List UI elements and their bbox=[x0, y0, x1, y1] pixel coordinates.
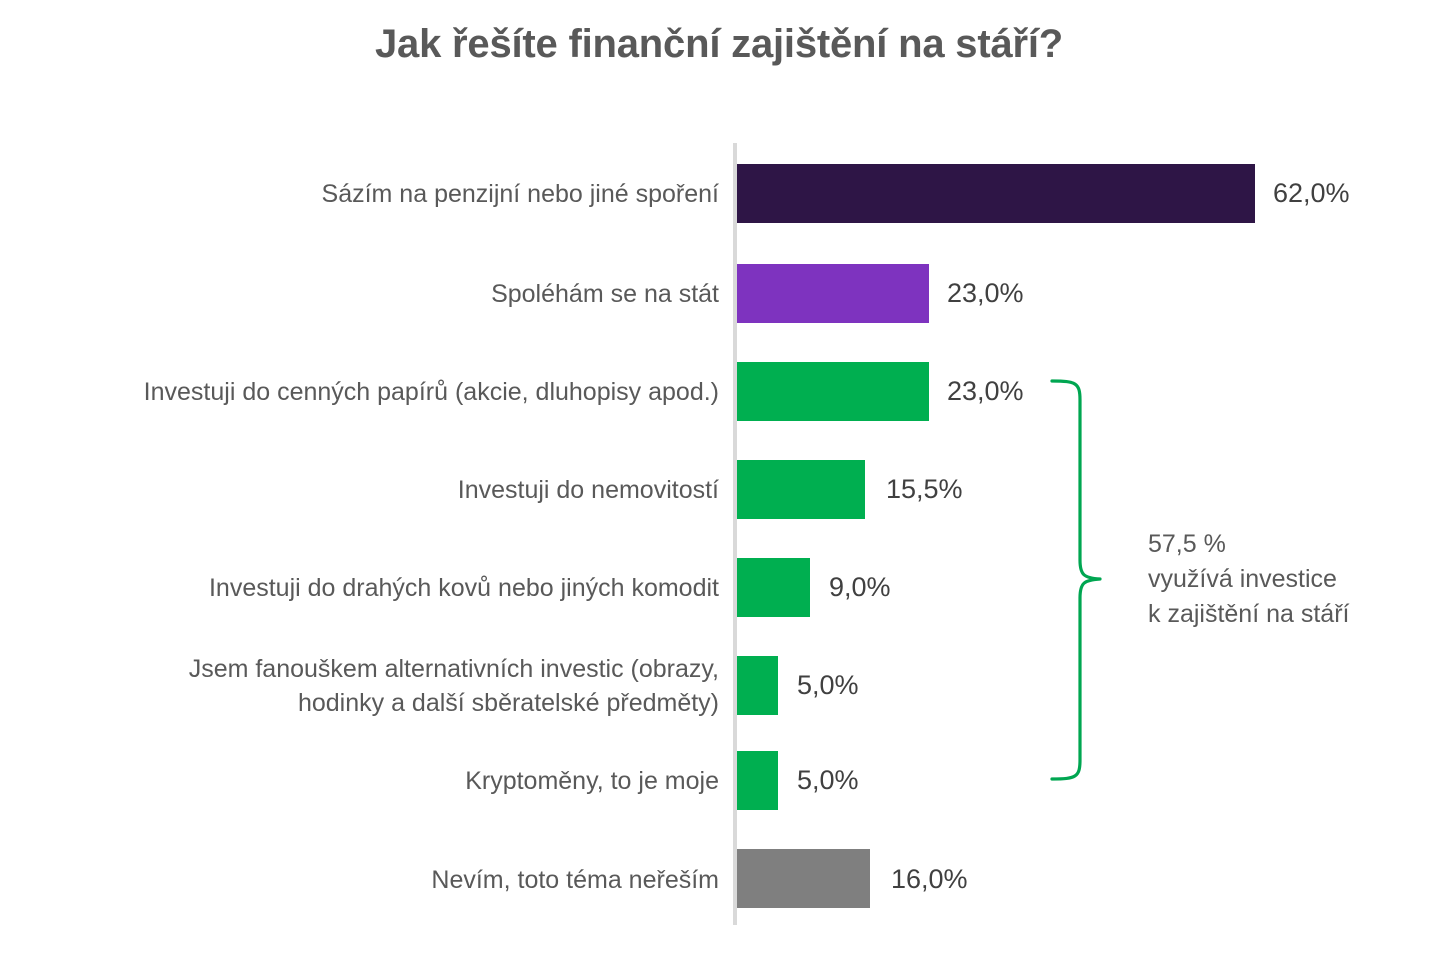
plot-area: Sázím na penzijní nebo jiné spoření 62,0… bbox=[0, 0, 1438, 962]
category-label: Investuji do cenných papírů (akcie, dluh… bbox=[19, 375, 719, 409]
annotation-brace-icon bbox=[1050, 378, 1116, 782]
category-label: Investuji do drahých kovů nebo jiných ko… bbox=[19, 571, 719, 605]
chart-container: Jak řešíte finanční zajištění na stáří? … bbox=[0, 0, 1438, 962]
annotation-line-2: využívá investice bbox=[1148, 562, 1428, 597]
value-label: 16,0% bbox=[891, 866, 968, 893]
category-label: Nevím, toto téma neřeším bbox=[19, 863, 719, 897]
bar-segment[interactable] bbox=[737, 849, 870, 908]
bar-segment[interactable] bbox=[737, 558, 810, 617]
bar-segment[interactable] bbox=[737, 264, 929, 323]
annotation-line-3: k zajištění na stáří bbox=[1148, 597, 1428, 632]
category-label: Spoléhám se na stát bbox=[19, 277, 719, 311]
value-label: 23,0% bbox=[947, 378, 1024, 405]
category-label: Investuji do nemovitostí bbox=[19, 473, 719, 507]
annotation-line-1: 57,5 % bbox=[1148, 527, 1428, 562]
bar-segment[interactable] bbox=[737, 751, 778, 810]
value-label: 23,0% bbox=[947, 280, 1024, 307]
value-label: 62,0% bbox=[1273, 180, 1350, 207]
category-label: Sázím na penzijní nebo jiné spoření bbox=[19, 177, 719, 211]
bar-segment[interactable] bbox=[737, 164, 1255, 223]
value-label: 5,0% bbox=[797, 672, 859, 699]
bar-segment[interactable] bbox=[737, 362, 929, 421]
category-label: Kryptoměny, to je moje bbox=[19, 764, 719, 798]
annotation-text: 57,5 % využívá investice k zajištění na … bbox=[1148, 527, 1428, 632]
value-label: 9,0% bbox=[829, 574, 891, 601]
value-label: 15,5% bbox=[886, 476, 963, 503]
category-label: Jsem fanouškem alternativních investic (… bbox=[19, 652, 719, 720]
value-label: 5,0% bbox=[797, 767, 859, 794]
bar-segment[interactable] bbox=[737, 656, 778, 715]
bar-segment[interactable] bbox=[737, 460, 865, 519]
